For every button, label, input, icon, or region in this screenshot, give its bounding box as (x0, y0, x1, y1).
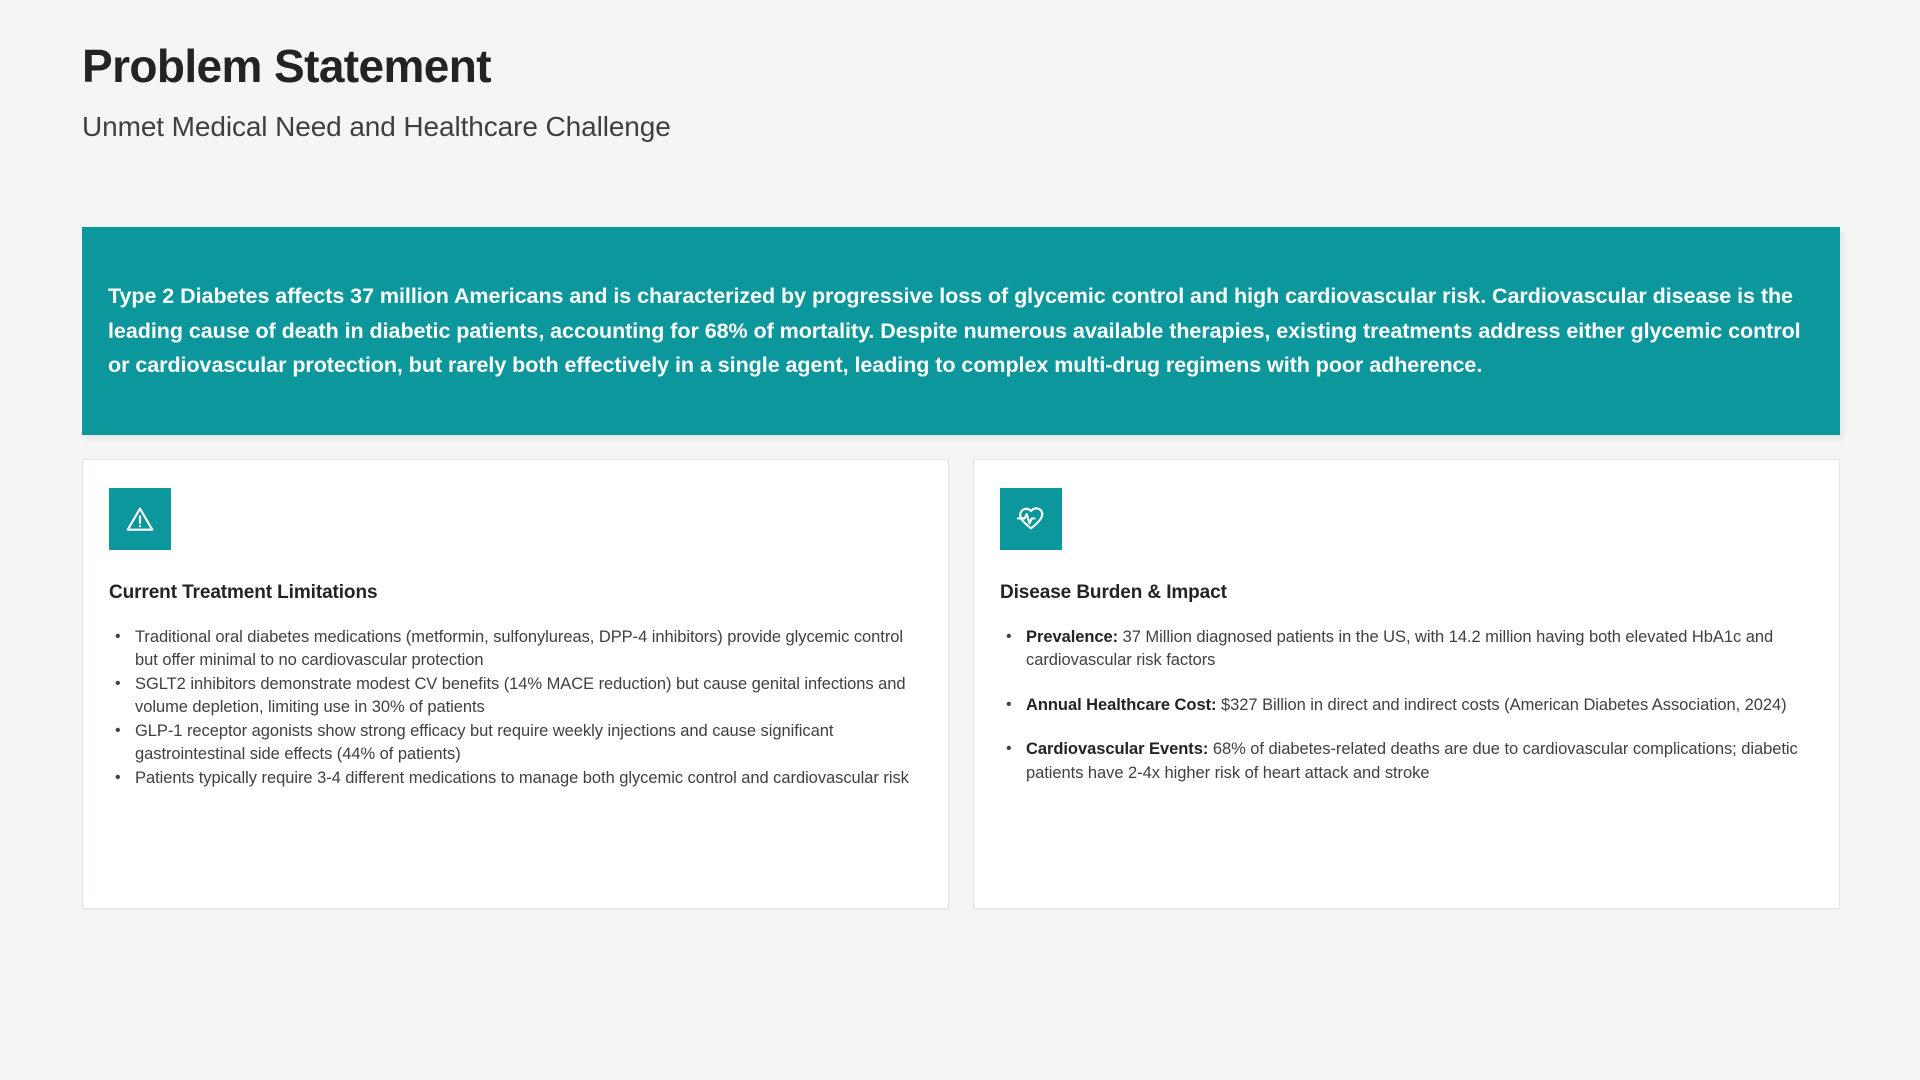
heart-pulse-icon (1000, 488, 1062, 550)
card-title: Disease Burden & Impact (1000, 582, 1811, 604)
bullet-list: • Traditional oral diabetes medications … (109, 626, 920, 790)
list-item-body: $327 Billion in direct and indirect cost… (1221, 696, 1787, 714)
slide-header: Problem Statement Unmet Medical Need and… (82, 42, 1842, 143)
summary-banner-text: Type 2 Diabetes affects 37 million Ameri… (108, 279, 1808, 383)
slide-root: Problem Statement Unmet Medical Need and… (0, 0, 1920, 1080)
bullet-marker-icon: • (1000, 626, 1026, 673)
warning-triangle-icon (109, 488, 171, 550)
list-item-text: Annual Healthcare Cost: $327 Billion in … (1026, 694, 1811, 717)
card-title: Current Treatment Limitations (109, 582, 920, 604)
bullet-marker-icon: • (1000, 738, 1026, 785)
list-item-text: Cardiovascular Events: 68% of diabetes-r… (1026, 738, 1811, 785)
list-item: • SGLT2 inhibitors demonstrate modest CV… (109, 673, 920, 720)
list-item-text: Patients typically require 3-4 different… (135, 767, 920, 790)
list-item-body: 37 Million diagnosed patients in the US,… (1026, 628, 1773, 669)
card-current-treatment-limitations: Current Treatment Limitations • Traditio… (82, 459, 949, 909)
bullet-marker-icon: • (109, 767, 135, 790)
list-item-text: GLP-1 receptor agonists show strong effi… (135, 720, 920, 767)
bullet-marker-icon: • (109, 720, 135, 767)
list-item-label: Prevalence: (1026, 628, 1118, 646)
list-item-label: Cardiovascular Events: (1026, 740, 1208, 758)
card-disease-burden-impact: Disease Burden & Impact • Prevalence: 37… (973, 459, 1840, 909)
bullet-marker-icon: • (1000, 694, 1026, 717)
list-item: • Patients typically require 3-4 differe… (109, 767, 920, 790)
list-item-text: Traditional oral diabetes medications (m… (135, 626, 920, 673)
list-item-text: SGLT2 inhibitors demonstrate modest CV b… (135, 673, 920, 720)
list-item: • GLP-1 receptor agonists show strong ef… (109, 720, 920, 767)
page-subtitle: Unmet Medical Need and Healthcare Challe… (82, 110, 1842, 144)
bullet-list: • Prevalence: 37 Million diagnosed patie… (1000, 626, 1811, 785)
list-item: • Cardiovascular Events: 68% of diabetes… (1000, 738, 1811, 785)
cards-row: Current Treatment Limitations • Traditio… (82, 459, 1840, 909)
summary-banner: Type 2 Diabetes affects 37 million Ameri… (82, 227, 1840, 435)
bullet-marker-icon: • (109, 673, 135, 720)
list-item-text: Prevalence: 37 Million diagnosed patient… (1026, 626, 1811, 673)
bullet-marker-icon: • (109, 626, 135, 673)
list-item-label: Annual Healthcare Cost: (1026, 696, 1216, 714)
page-title: Problem Statement (82, 42, 1842, 92)
list-item: • Annual Healthcare Cost: $327 Billion i… (1000, 694, 1811, 717)
list-item: • Prevalence: 37 Million diagnosed patie… (1000, 626, 1811, 673)
list-item: • Traditional oral diabetes medications … (109, 626, 920, 673)
